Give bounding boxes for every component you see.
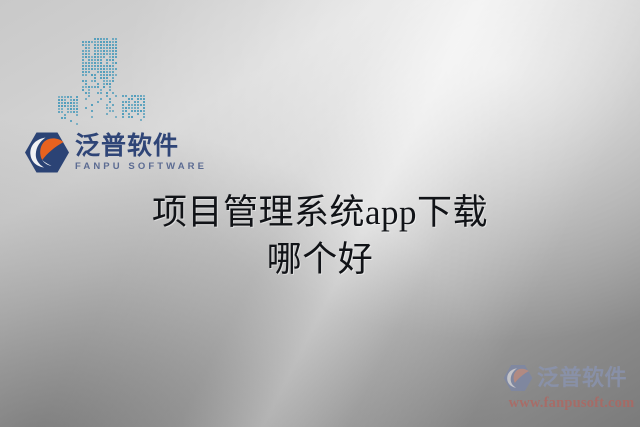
brand-text: 泛普软件 FANPU SOFTWARE	[75, 134, 207, 172]
brand-name-en: FANPU SOFTWARE	[75, 162, 207, 172]
banner-image: 泛普软件 FANPU SOFTWARE 项目管理系统app下载 哪个好 泛普软件…	[0, 0, 640, 427]
brand-logo: 泛普软件 FANPU SOFTWARE	[24, 131, 207, 174]
fanpu-logo-mark-icon	[24, 131, 70, 174]
brand-name-cn: 泛普软件	[75, 134, 207, 159]
watermark-url: www.fanpusoft.com	[503, 395, 640, 412]
pixel-skyline-graphic	[56, 30, 152, 130]
watermark-name-cn: 泛普软件	[537, 367, 627, 389]
page-title: 项目管理系统app下载 哪个好	[120, 190, 520, 283]
watermark-logo-mark-icon	[503, 364, 533, 392]
watermark-logo-row: 泛普软件	[503, 364, 640, 392]
watermark: 泛普软件 www.fanpusoft.com	[503, 364, 640, 412]
